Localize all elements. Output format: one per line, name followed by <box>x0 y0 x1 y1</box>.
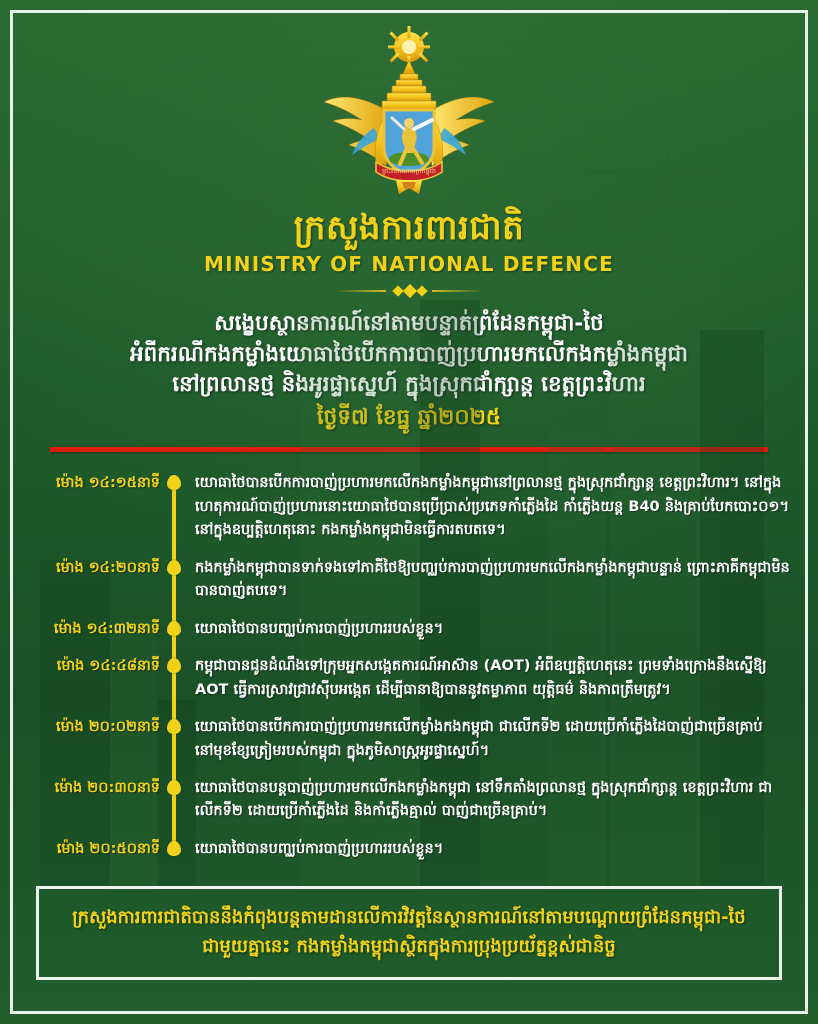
timeline-entry-text: កម្ពុជាបានជូនដំណឹងទៅក្រុមអ្នកសង្កេតការណ៍… <box>183 655 798 702</box>
timeline-entry: ម៉ោង ១៤:៣២នាទី យោធាថៃបានបញ្ឈប់ការបាញ់ប្រ… <box>0 618 798 641</box>
timeline-entry-time: ម៉ោង ២០:៣០នាទី <box>0 777 170 799</box>
ministry-name-khmer: ក្រសួងការពារជាតិ <box>0 209 818 248</box>
timeline-entry-text: យោធាថៃបានបញ្ឈប់ការបាញ់ប្រហាររបស់ខ្លួន។ <box>183 838 798 861</box>
timeline-entry-text: យោធាថៃបានបើកការបាញ់ប្រហារមកលើកម្លាំងកងកម… <box>183 716 798 763</box>
title-block: សង្ខេបស្ថានការណ៍នៅតាមបន្ទាត់ព្រំដែនកម្ពុ… <box>0 309 818 433</box>
footer-statement-box: ក្រសួងការពារជាតិបាននឹងកំពុងបន្តតាមដានលើក… <box>36 886 782 980</box>
emblem-icon: ព្រះរាជាណាចក្រកម្ពុជា <box>314 22 504 207</box>
red-divider <box>50 447 768 452</box>
header: ព្រះរាជាណាចក្រកម្ពុជា ក្រសួងការពារជាតិ M… <box>0 0 818 297</box>
timeline-entry-time: ម៉ោង ២០:០២នាទី <box>0 716 170 738</box>
timeline: ម៉ោង ១៤:១៥នាទី យោធាថៃបានបើកការបាញ់ប្រហារ… <box>0 472 818 861</box>
footer-line-1: ក្រសួងការពារជាតិបាននឹងកំពុងបន្តតាមដានលើក… <box>61 903 757 932</box>
poster-root: ព្រះរាជាណាចក្រកម្ពុជា ក្រសួងការពារជាតិ M… <box>0 0 818 1024</box>
timeline-entry: ម៉ោង ១៤:១៥នាទី យោធាថៃបានបើកការបាញ់ប្រហារ… <box>0 472 798 542</box>
timeline-entry-text: យោធាថៃបានបើកការបាញ់ប្រហារមកលើកងកម្លាំងកម… <box>183 472 798 542</box>
timeline-marker-icon <box>167 560 183 576</box>
timeline-entry-time: ម៉ោង ១៤:១៥នាទី <box>0 472 170 494</box>
timeline-marker-icon <box>167 780 183 796</box>
title-line-1: សង្ខេបស្ថានការណ៍នៅតាមបន្ទាត់ព្រំដែនកម្ពុ… <box>42 309 776 340</box>
ministry-name-english: MINISTRY OF NATIONAL DEFENCE <box>0 252 818 276</box>
timeline-entry-time: ម៉ោង ១៤:៤៨នាទី <box>0 655 170 677</box>
footer-line-2: ជាមួយគ្នានេះ កងកម្លាំងកម្ពុជាស្ថិតក្នុងក… <box>61 932 757 961</box>
timeline-entry-text: យោធាថៃបានបន្តបាញ់ប្រហារមកលើកងកម្លាំងកម្ព… <box>183 777 798 824</box>
timeline-entry: ម៉ោង ២០:០២នាទី យោធាថៃបានបើកការបាញ់ប្រហារ… <box>0 716 798 763</box>
timeline-entry-time: ម៉ោង ២០:៥០នាទី <box>0 838 170 860</box>
timeline-entry: ម៉ោង ២០:៣០នាទី យោធាថៃបានបន្តបាញ់ប្រហារមក… <box>0 777 798 824</box>
title-line-2: អំពីករណីកងកម្លាំងយោធាថៃបើកការបាញ់ប្រហារម… <box>42 340 776 371</box>
timeline-marker-icon <box>167 841 183 857</box>
title-date: ថ្ងៃទី៧ ខែធ្នូ ឆ្នាំ២០២៥ <box>42 403 776 434</box>
timeline-marker-icon <box>167 719 183 735</box>
timeline-entry-text: យោធាថៃបានបញ្ឈប់ការបាញ់ប្រហាររបស់ខ្លួន។ <box>183 618 798 641</box>
timeline-entry-time: ម៉ោង ១៤:២០នាទី <box>0 557 170 579</box>
timeline-entry-time: ម៉ោង ១៤:៣២នាទី <box>0 618 170 640</box>
timeline-marker-icon <box>167 475 183 491</box>
timeline-marker-icon <box>167 658 183 674</box>
timeline-entry: ម៉ោង ២០:៥០នាទី យោធាថៃបានបញ្ឈប់ការបាញ់ប្រ… <box>0 838 798 861</box>
timeline-entry: ម៉ោង ១៤:៤៨នាទី កម្ពុជាបានជូនដំណឹងទៅក្រុម… <box>0 655 798 702</box>
decorative-divider-icon <box>334 285 484 297</box>
timeline-marker-icon <box>167 621 183 637</box>
timeline-entry: ម៉ោង ១៤:២០នាទី កងកម្លាំងកម្ពុជាបានទាក់ទង… <box>0 557 798 604</box>
timeline-entry-text: កងកម្លាំងកម្ពុជាបានទាក់ទងទៅភាគីថៃឱ្យបញ្ឈ… <box>183 557 798 604</box>
svg-text:ព្រះរាជាណាចក្រកម្ពុជា: ព្រះរាជាណាចក្រកម្ពុជា <box>382 167 436 176</box>
title-line-3: នៅព្រលានថ្ម និងអូរផ្ទាស្នេហ៍ ក្នុងស្រុកជ… <box>42 370 776 401</box>
